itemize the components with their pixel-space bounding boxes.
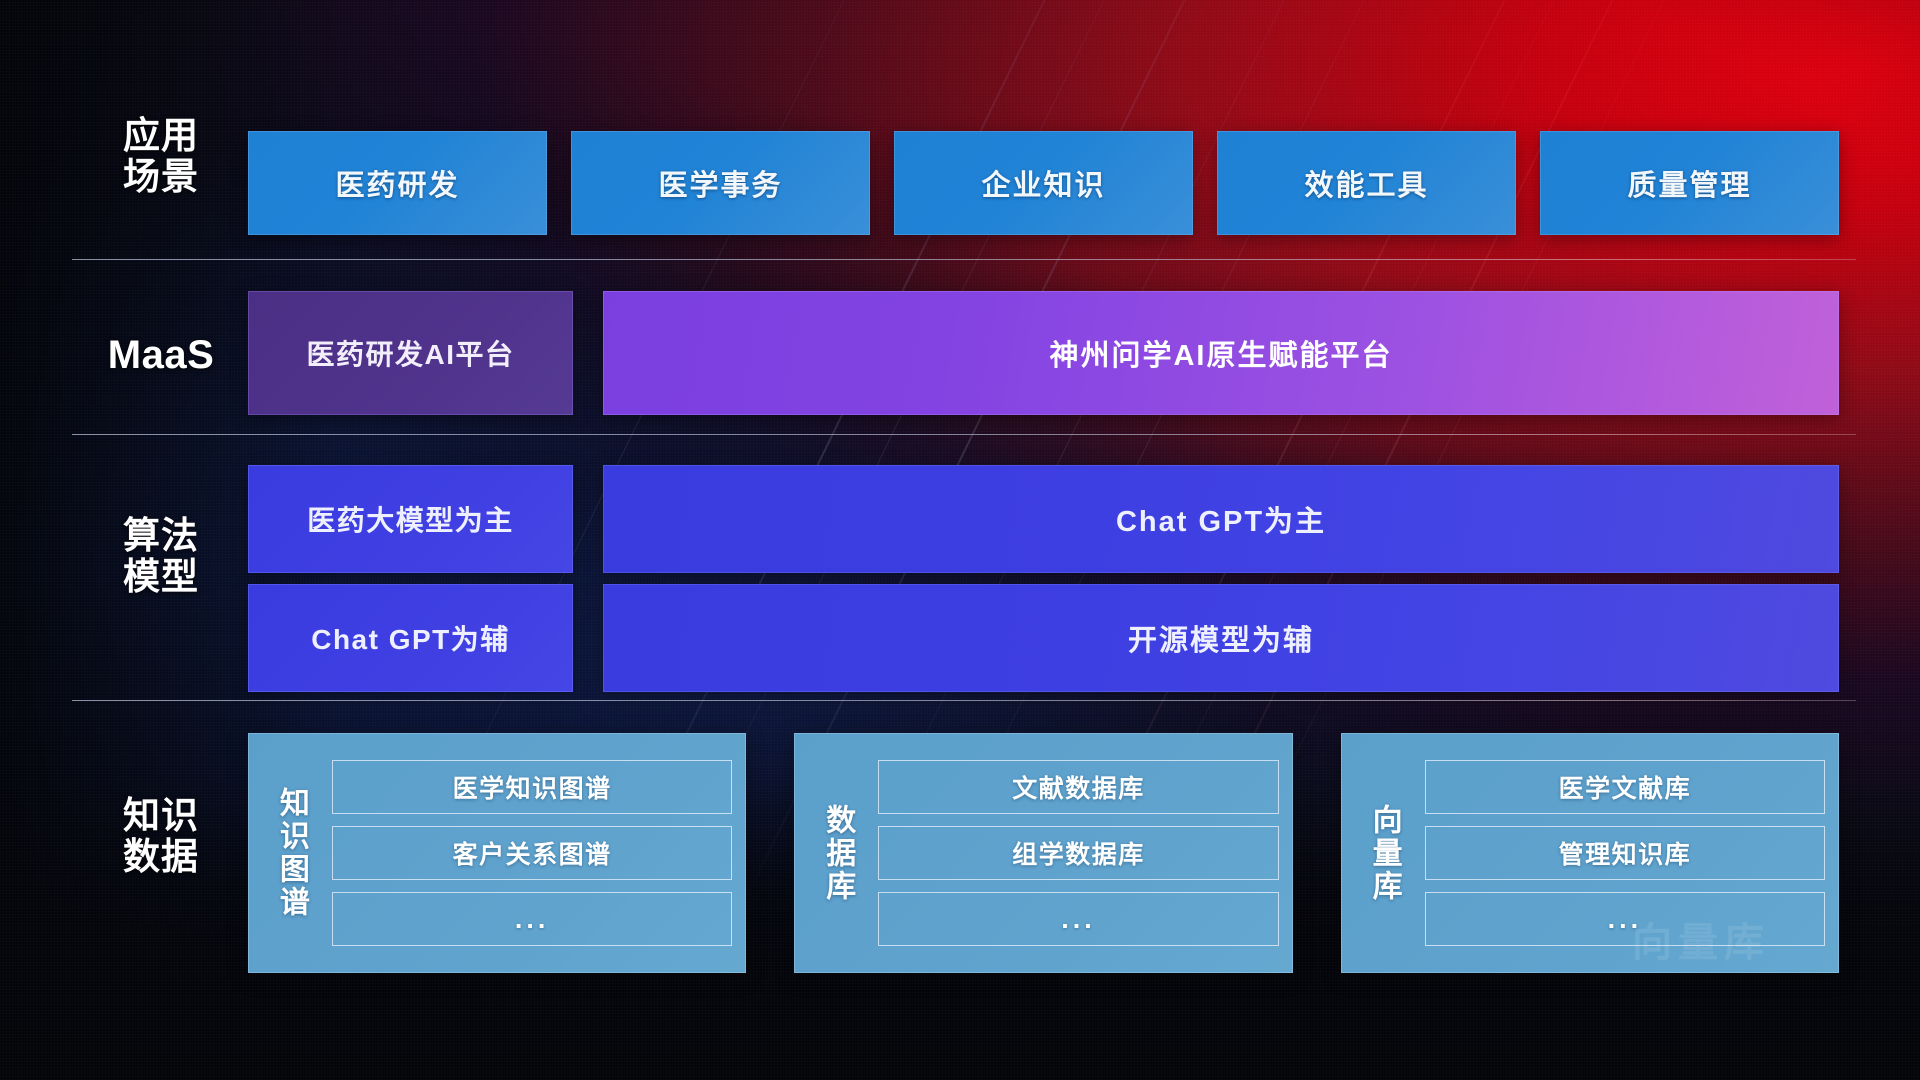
knowledge-item-1-1[interactable]: 医学知识图谱 (332, 760, 732, 814)
knowledge-item-1-2[interactable]: 客户关系图谱 (332, 826, 732, 880)
algo-primary-left-label: 医药大模型为主 (307, 499, 514, 539)
algo-primary-right[interactable]: Chat GPT为主 (603, 465, 1839, 573)
app-box-4[interactable]: 效能工具 (1217, 131, 1516, 235)
app-box-2[interactable]: 医学事务 (571, 131, 870, 235)
knowledge-group-3-label: 向量库 (1351, 745, 1417, 961)
knowledge-group-2-label: 数据库 (804, 745, 870, 961)
knowledge-group-vector-store[interactable]: 向量库 医学文献库 管理知识库 ... (1341, 733, 1839, 973)
knowledge-item-2-1[interactable]: 文献数据库 (878, 760, 1278, 814)
knowledge-item-1-3-label: ... (515, 904, 550, 935)
algorithm-model-row-secondary: Chat GPT为辅 开源模型为辅 (248, 584, 1839, 692)
maas-platform-shenzhou-label: 神州问学AI原生赋能平台 (1049, 332, 1392, 374)
maas-platform-pharma-label: 医药研发AI平台 (306, 333, 514, 373)
knowledge-item-1-1-label: 医学知识图谱 (453, 769, 612, 805)
app-box-2-label: 医学事务 (658, 162, 782, 204)
algo-secondary-right-label: 开源模型为辅 (1128, 617, 1314, 659)
knowledge-item-3-1-label: 医学文献库 (1559, 769, 1692, 805)
knowledge-group-1-label: 知识图谱 (258, 745, 324, 961)
application-scenario-row: 医药研发 医学事务 企业知识 效能工具 质量管理 (248, 131, 1839, 235)
row-label-application-scenario: 应用场景 (86, 115, 236, 198)
algorithm-model-row: 医药大模型为主 Chat GPT为主 Chat GPT为辅 开源模型为辅 (248, 465, 1839, 692)
knowledge-data-row: 知识图谱 医学知识图谱 客户关系图谱 ... 数据库 (248, 733, 1839, 973)
divider-3 (72, 700, 1856, 701)
algo-primary-right-label: Chat GPT为主 (1116, 498, 1326, 540)
app-box-3[interactable]: 企业知识 (894, 131, 1193, 235)
knowledge-item-2-1-label: 文献数据库 (1012, 769, 1145, 805)
app-box-5[interactable]: 质量管理 (1540, 131, 1839, 235)
divider-2 (72, 434, 1856, 435)
algo-secondary-right[interactable]: 开源模型为辅 (603, 584, 1839, 692)
maas-platform-pharma[interactable]: 医药研发AI平台 (248, 291, 573, 415)
row-label-knowledge-data: 知识数据 (86, 795, 236, 878)
knowledge-group-3-items: 医学文献库 管理知识库 ... (1417, 745, 1825, 961)
maas-platform-shenzhou[interactable]: 神州问学AI原生赋能平台 (603, 291, 1839, 415)
row-label-maas: MaaS (86, 333, 236, 378)
knowledge-item-3-1[interactable]: 医学文献库 (1425, 760, 1825, 814)
algo-primary-left[interactable]: 医药大模型为主 (248, 465, 573, 573)
diagram-content: 应用场景 医药研发 医学事务 企业知识 效能工具 质量管理 MaaS 医药研发A… (0, 0, 1920, 1080)
knowledge-group-1-items: 医学知识图谱 客户关系图谱 ... (324, 745, 732, 961)
knowledge-item-3-2[interactable]: 管理知识库 (1425, 826, 1825, 880)
row-label-algorithm-model: 算法模型 (86, 515, 236, 598)
knowledge-item-3-2-label: 管理知识库 (1559, 835, 1692, 871)
app-box-4-label: 效能工具 (1304, 162, 1428, 204)
app-box-5-label: 质量管理 (1627, 162, 1751, 204)
app-box-1-label: 医药研发 (335, 162, 459, 204)
knowledge-item-2-2[interactable]: 组学数据库 (878, 826, 1278, 880)
app-box-3-label: 企业知识 (981, 162, 1105, 204)
algo-secondary-left-label: Chat GPT为辅 (311, 618, 510, 658)
algorithm-model-row-primary: 医药大模型为主 Chat GPT为主 (248, 465, 1839, 573)
knowledge-item-3-3[interactable]: ... (1425, 892, 1825, 946)
slide-canvas: 应用场景 医药研发 医学事务 企业知识 效能工具 质量管理 MaaS 医药研发A… (0, 0, 1920, 1080)
app-box-1[interactable]: 医药研发 (248, 131, 547, 235)
divider-1 (72, 259, 1856, 260)
knowledge-group-database[interactable]: 数据库 文献数据库 组学数据库 ... (794, 733, 1292, 973)
knowledge-item-2-3[interactable]: ... (878, 892, 1278, 946)
knowledge-group-2-items: 文献数据库 组学数据库 ... (870, 745, 1278, 961)
algo-secondary-left[interactable]: Chat GPT为辅 (248, 584, 573, 692)
knowledge-item-1-2-label: 客户关系图谱 (453, 835, 612, 871)
knowledge-item-1-3[interactable]: ... (332, 892, 732, 946)
knowledge-item-3-3-label: ... (1608, 904, 1643, 935)
maas-row: 医药研发AI平台 神州问学AI原生赋能平台 (248, 291, 1839, 415)
knowledge-group-knowledge-graph[interactable]: 知识图谱 医学知识图谱 客户关系图谱 ... (248, 733, 746, 973)
knowledge-item-2-2-label: 组学数据库 (1012, 835, 1145, 871)
knowledge-item-2-3-label: ... (1061, 904, 1096, 935)
